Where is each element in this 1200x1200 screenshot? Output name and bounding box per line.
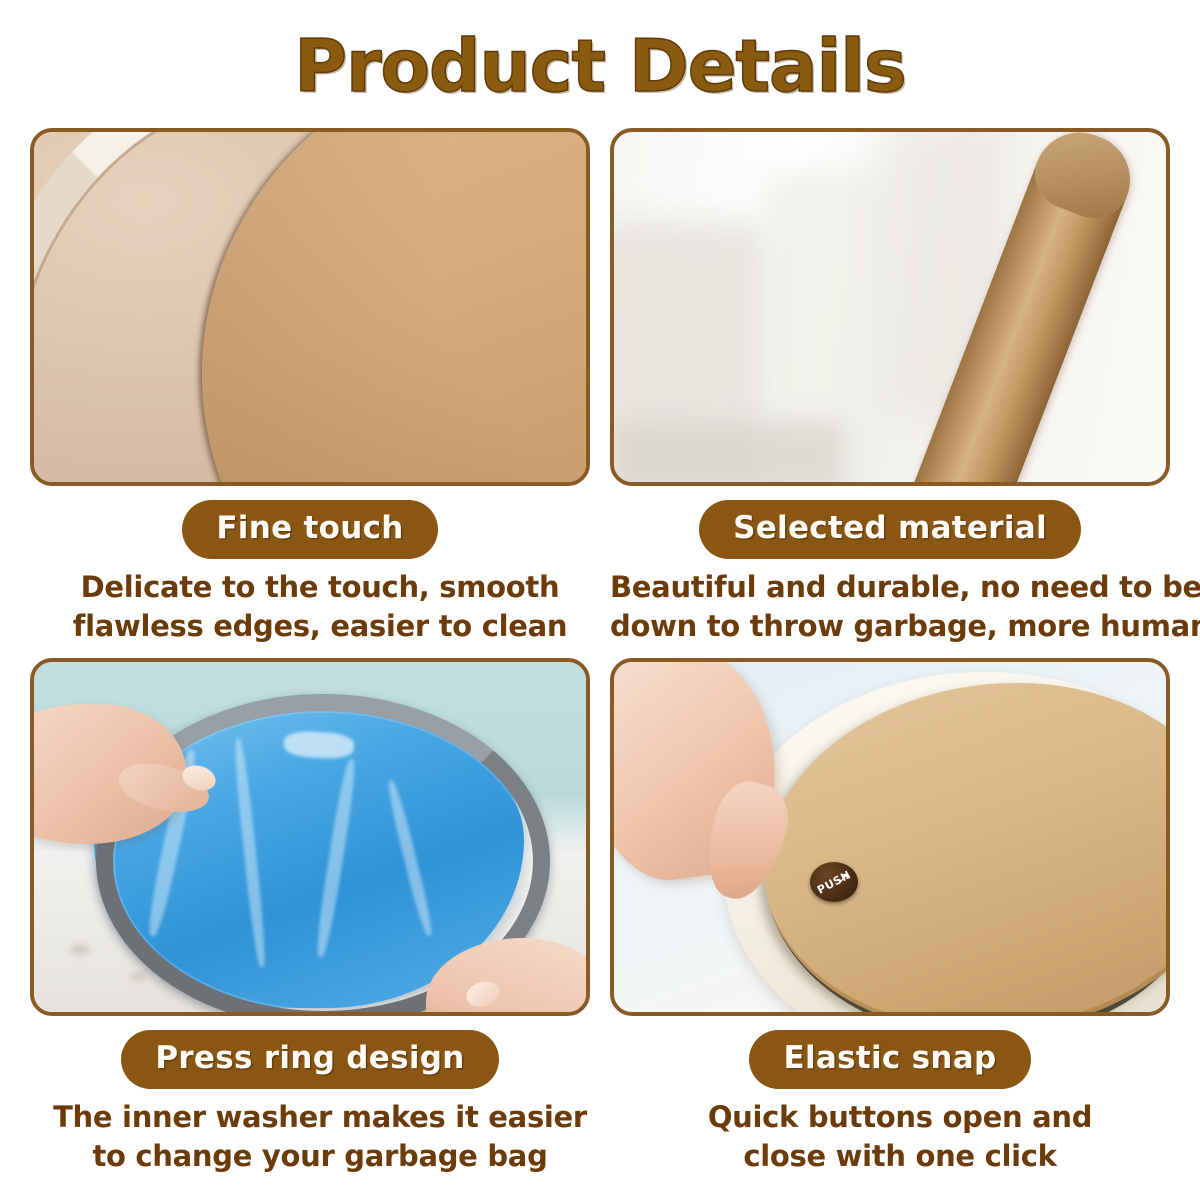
photo-press-ring-design <box>34 662 586 1012</box>
feature-cell-selected-material: Selected material Beautiful and durable,… <box>610 128 1170 658</box>
page-title: Product Details <box>0 24 1200 108</box>
push-arrow-icon: ↗ <box>835 871 850 888</box>
caption-line: Beautiful and durable, no need to bend <box>610 568 1190 607</box>
blurred-shape <box>614 422 844 482</box>
pill-row-elastic-snap: Elastic snap <box>610 1030 1170 1089</box>
feature-caption-selected-material: Beautiful and durable, no need to bend d… <box>610 568 1190 645</box>
feature-cell-elastic-snap: PUSH ↗ Elastic snap Quick buttons open a… <box>610 658 1170 1188</box>
pill-row-selected-material: Selected material <box>610 500 1170 559</box>
pill-row-fine-touch: Fine touch <box>30 500 590 559</box>
photo-frame-selected-material <box>610 128 1170 486</box>
push-button-icon: PUSH ↗ <box>810 862 858 902</box>
counter-spot <box>70 944 90 956</box>
caption-line: down to throw garbage, more humane <box>610 607 1190 646</box>
caption-line: flawless edges, easier to clean <box>30 607 610 646</box>
photo-selected-material <box>614 132 1166 482</box>
caption-line: Delicate to the touch, smooth <box>30 568 610 607</box>
feature-cell-fine-touch: PUSH ↗ Fine touch Delicate to the touch,… <box>30 128 590 658</box>
feature-cell-press-ring-design: Press ring design The inner washer makes… <box>30 658 590 1188</box>
photo-frame-elastic-snap: PUSH ↗ <box>610 658 1170 1016</box>
photo-frame-press-ring-design <box>30 658 590 1016</box>
caption-line: The inner washer makes it easier <box>30 1098 610 1137</box>
feature-label-fine-touch: Fine touch <box>182 500 437 559</box>
photo-elastic-snap: PUSH ↗ <box>614 662 1166 1012</box>
pill-row-press-ring-design: Press ring design <box>30 1030 590 1089</box>
caption-line: to change your garbage bag <box>30 1137 610 1176</box>
feature-caption-fine-touch: Delicate to the touch, smooth flawless e… <box>30 568 610 645</box>
feature-label-elastic-snap: Elastic snap <box>749 1030 1030 1089</box>
photo-fine-touch: PUSH ↗ <box>34 132 586 482</box>
photo-frame-fine-touch: PUSH ↗ <box>30 128 590 486</box>
feature-grid: PUSH ↗ Fine touch Delicate to the touch,… <box>30 128 1170 1188</box>
caption-line: Quick buttons open and <box>610 1098 1190 1137</box>
feature-caption-elastic-snap: Quick buttons open and close with one cl… <box>610 1098 1190 1175</box>
caption-line: close with one click <box>610 1137 1190 1176</box>
feature-caption-press-ring-design: The inner washer makes it easier to chan… <box>30 1098 610 1175</box>
feature-label-selected-material: Selected material <box>699 500 1081 559</box>
product-details-infographic: Product Details PUSH ↗ Fine touch <box>0 0 1200 1200</box>
feature-label-press-ring-design: Press ring design <box>121 1030 498 1089</box>
counter-spot <box>130 972 146 982</box>
